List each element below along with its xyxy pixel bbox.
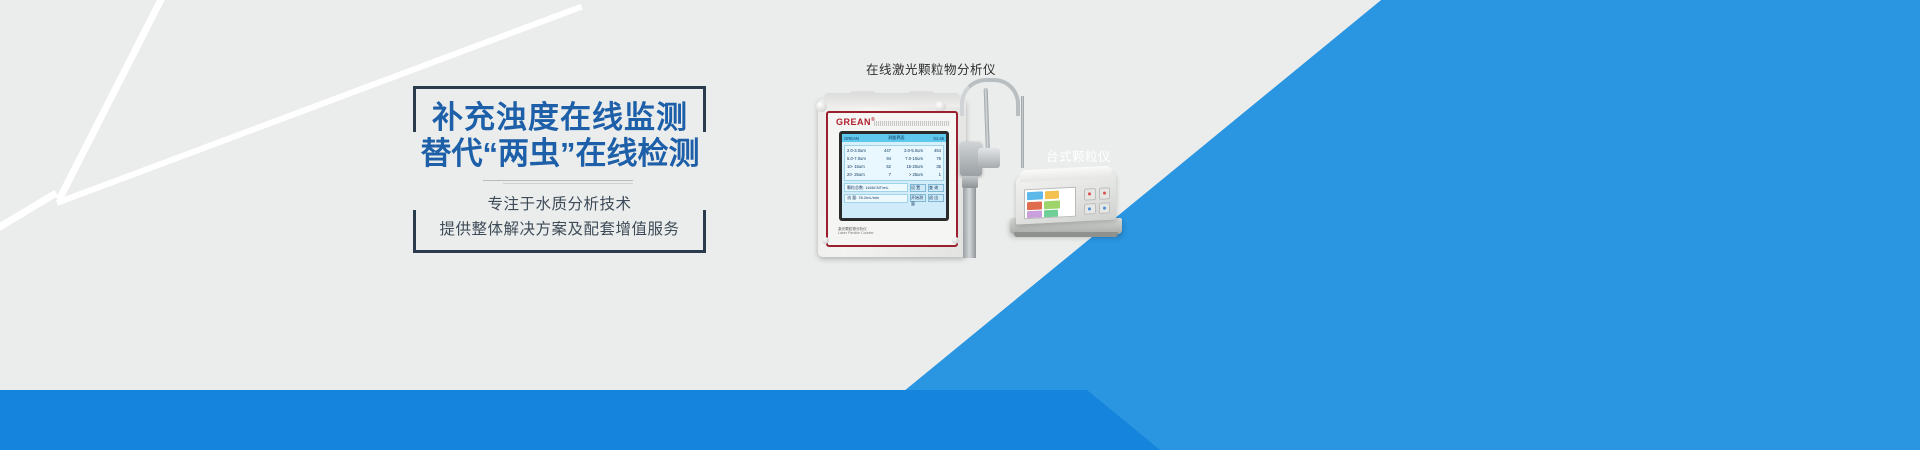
lcd-settings-button[interactable]: 设 置 — [910, 184, 926, 192]
device-knob-left — [816, 101, 827, 112]
divider-rule-bottom — [503, 183, 633, 184]
lcd-exit-button[interactable]: 退 出 — [928, 194, 944, 202]
cell-range-b: 7.0-10um — [895, 155, 923, 163]
cell-count-a: 7 — [877, 171, 891, 179]
benchtop-keypad[interactable] — [1084, 187, 1110, 214]
online-particle-analyzer-image: GREAN® GREAN 测量界面 01:46 2.0-3.0um 447 3.… — [812, 85, 972, 260]
device-front-panel: GREAN® GREAN 测量界面 01:46 2.0-3.0um 447 3.… — [826, 111, 958, 247]
cell-count-a: 94 — [877, 155, 891, 163]
headline-line-2: 替代“两虫”在线检测 — [405, 136, 715, 172]
keypad-button-3[interactable] — [1084, 203, 1096, 215]
device-lcd-bezel: GREAN 测量界面 01:46 2.0-3.0um 447 3.0-5.0um… — [839, 131, 949, 221]
subtitle-block: 专注于水质分析技术 提供整体解决方案及配套增值服务 — [413, 192, 706, 242]
cell-count-a: 52 — [877, 163, 891, 171]
probe-tube-arc — [960, 78, 1020, 116]
device-vent-grille — [874, 121, 950, 126]
lcd-title-bar: GREAN 测量界面 01:46 — [842, 134, 946, 142]
headline-line-1: 补充浊度在线监测 — [405, 100, 715, 136]
callout-online-analyzer: 在线激光颗粒物分析仪 — [866, 59, 996, 78]
cell-count-b: 454 — [927, 147, 941, 155]
callout-benchtop-analyzer: 台式颗粒仪 — [1046, 146, 1111, 165]
divider-rule-top — [483, 180, 633, 181]
lcd-start-measure-button[interactable]: 开始测量 — [910, 194, 926, 202]
cell-count-a: 447 — [877, 147, 891, 155]
lcd-query-button[interactable]: 查 询 — [928, 184, 944, 192]
device-screw-bottom-left — [822, 237, 829, 244]
lcd-footer: 颗粒总数: 1166CNT/mL 设 置 查 询 流 量: 78.2mL/min… — [844, 183, 944, 203]
lcd-footer-row: 流 量: 78.2mL/min 开始测量 退 出 — [844, 194, 944, 203]
cell-range-a: 10- 15um — [847, 163, 873, 171]
benchtop-support-pole — [1021, 96, 1024, 168]
hero-banner: 补充浊度在线监测 替代“两虫”在线检测 专注于水质分析技术 提供整体解决方案及配… — [0, 0, 1920, 450]
subtitle-line-2: 提供整体解决方案及配套增值服务 — [413, 217, 706, 242]
brand-text: GREAN — [836, 117, 871, 127]
screen-tile-6 — [1044, 210, 1058, 219]
benchtop-particle-analyzer-image — [1010, 166, 1122, 244]
page-title: 补充浊度在线监测 替代“两虫”在线检测 — [405, 100, 715, 172]
screen-tile-2 — [1045, 191, 1059, 200]
lcd-total-count-field: 颗粒总数: 1166CNT/mL — [844, 183, 908, 192]
cell-range-b: 15-20um — [895, 163, 923, 171]
subtitle-line-1: 专注于水质分析技术 — [413, 192, 706, 217]
cell-range-b: 3.0-5.0um — [895, 147, 923, 155]
lcd-title-left: GREAN — [844, 136, 859, 141]
probe-sensor-cylinder — [978, 148, 1000, 168]
keypad-button-4[interactable] — [1099, 202, 1111, 214]
device-model-en: Laser Particle Counter — [838, 231, 874, 235]
device-screw-bottom-right — [952, 237, 959, 244]
cell-count-b: 76 — [927, 155, 941, 163]
cell-range-a: 20- 25um — [847, 171, 873, 179]
lcd-footer-row: 颗粒总数: 1166CNT/mL 设 置 查 询 — [844, 183, 944, 192]
lcd-title-center: 测量界面 — [888, 135, 905, 141]
screen-tile-1 — [1027, 191, 1043, 200]
benchtop-touchscreen[interactable] — [1024, 187, 1076, 220]
probe-sensor-bottom-fitting — [962, 176, 978, 188]
table-row: 10- 15um 52 15-20um 35 — [847, 163, 941, 171]
lcd-particle-table: 2.0-3.0um 447 3.0-5.0um 454 5.0-7.0um 94… — [844, 145, 944, 181]
screen-tile-5 — [1027, 210, 1042, 219]
headline-card: 补充浊度在线监测 替代“两虫”在线检测 专注于水质分析技术 提供整体解决方案及配… — [413, 86, 706, 253]
keypad-button-1[interactable] — [1084, 188, 1096, 200]
cell-range-a: 5.0-7.0um — [847, 155, 873, 163]
cell-range-b: > 25um — [895, 171, 923, 179]
screen-tile-4 — [1044, 200, 1060, 209]
keypad-button-2[interactable] — [1099, 187, 1111, 199]
table-row: 5.0-7.0um 94 7.0-10um 76 — [847, 155, 941, 163]
benchtop-foot-strip — [1014, 232, 1118, 237]
device-lcd-screen[interactable]: GREAN 测量界面 01:46 2.0-3.0um 447 3.0-5.0um… — [842, 134, 946, 218]
device-brand-logo: GREAN® — [836, 117, 875, 127]
lcd-flow-field: 流 量: 78.2mL/min — [844, 194, 908, 203]
lcd-title-right: 01:46 — [934, 136, 944, 141]
cell-range-a: 2.0-3.0um — [847, 147, 873, 155]
table-row: 2.0-3.0um 447 3.0-5.0um 454 — [847, 147, 941, 155]
probe-sensor-lower-tube — [963, 188, 976, 258]
cell-count-b: 35 — [927, 163, 941, 171]
device-model-label: 激光颗粒物分析仪 Laser Particle Counter — [838, 227, 874, 236]
table-row: 20- 25um 7 > 25um 1 — [847, 171, 941, 179]
screen-tile-3 — [1027, 201, 1042, 210]
cell-count-b: 1 — [927, 171, 941, 179]
